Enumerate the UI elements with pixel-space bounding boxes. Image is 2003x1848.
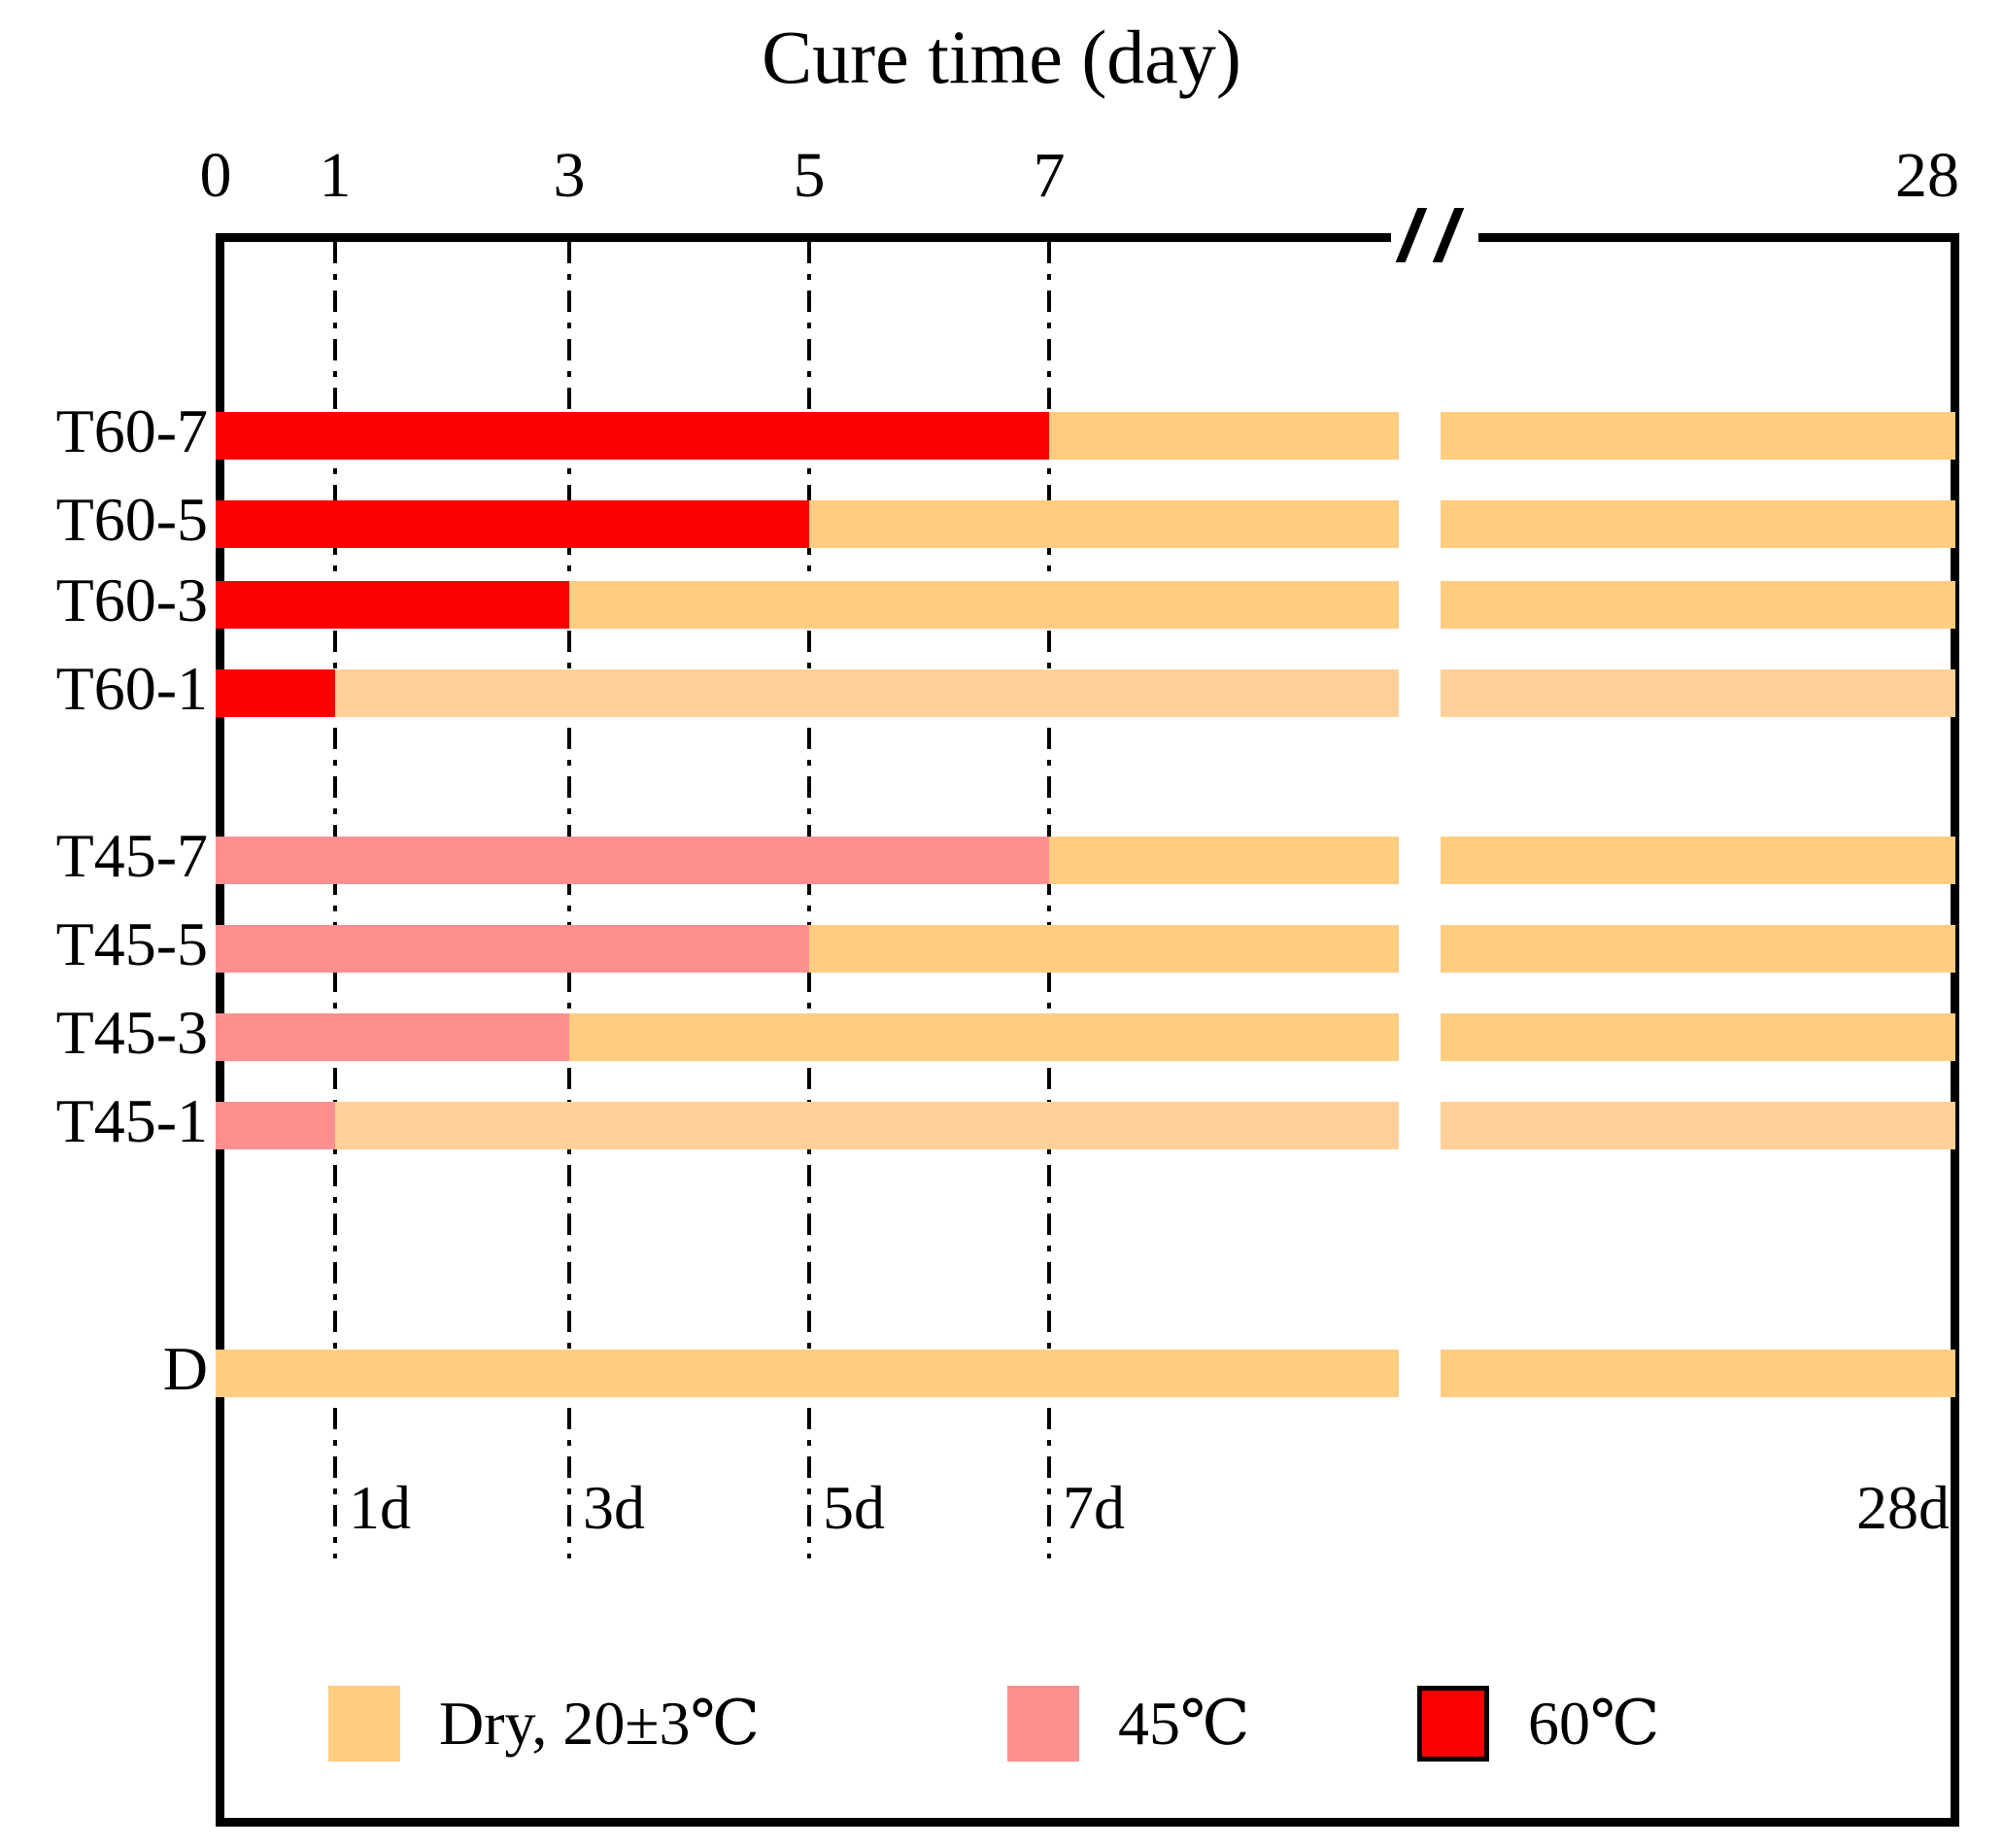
chart-root: Cure time (day) 0135728 T60-7T60-5T60-3T…: [0, 0, 2003, 1848]
x-tick-label-0: 0: [200, 144, 232, 208]
row-label-T60-1: T60-1: [56, 658, 208, 720]
bar-segment-T45-1-45℃: [216, 1102, 335, 1149]
x-tick-label-5: 5: [794, 144, 826, 208]
bar-segment-D-Dry, 20±3℃: [216, 1350, 1399, 1397]
row-label-T45-7: T45-7: [56, 825, 208, 887]
x-tick-label-28: 28: [1895, 144, 1959, 208]
row-label-T45-3: T45-3: [56, 1002, 208, 1064]
bar-segment-T45-7-Dry, 20±3℃: [1049, 837, 1399, 884]
bar-segment-T60-1-60℃: [216, 669, 335, 717]
page-title: Cure time (day): [0, 19, 2003, 95]
legend-swatch-icon: [328, 1686, 400, 1762]
bar-segment-T45-1-Dry, 20±3℃: [335, 1102, 1399, 1149]
bar-segment-T60-5-Dry, 20±3℃: [809, 500, 1399, 548]
legend-item-60℃[interactable]: 60℃: [1417, 1682, 1660, 1765]
bar-segment-T45-5-Dry, 20±3℃: [809, 925, 1399, 973]
bar-segment-T45-5-45℃: [216, 925, 809, 973]
row-label-T60-3: T60-3: [56, 569, 208, 632]
legend-label: 60℃: [1528, 1693, 1660, 1755]
day-annotation-1d: 1d: [349, 1477, 411, 1539]
legend-item-45℃[interactable]: 45℃: [1007, 1682, 1250, 1765]
bar-segment-T60-7-Dry, 20±3℃: [1049, 412, 1399, 460]
x-tick-label-1: 1: [320, 144, 352, 208]
bar-segment-T60-7-Dry, 20±3℃-post-break: [1441, 412, 1955, 460]
bar-segment-T45-3-Dry, 20±3℃-post-break: [1441, 1013, 1955, 1061]
row-label-T60-7: T60-7: [56, 400, 208, 462]
bar-segment-T60-1-Dry, 20±3℃-post-break: [1441, 669, 1955, 717]
bar-segment-T45-3-45℃: [216, 1013, 569, 1061]
row-label-T45-5: T45-5: [56, 913, 208, 975]
day-annotation-3d: 3d: [583, 1477, 645, 1539]
day-annotation-5d: 5d: [823, 1477, 885, 1539]
legend-swatch-icon: [1417, 1686, 1489, 1762]
bar-segment-T60-5-60℃: [216, 500, 809, 548]
bar-segment-T60-3-Dry, 20±3℃: [569, 581, 1399, 629]
legend-item-Dry, 20±3℃[interactable]: Dry, 20±3℃: [328, 1682, 760, 1765]
row-label-T45-1: T45-1: [56, 1090, 208, 1152]
bar-segment-T45-7-Dry, 20±3℃-post-break: [1441, 837, 1955, 884]
bar-segment-T60-5-Dry, 20±3℃-post-break: [1441, 500, 1955, 548]
bar-segment-T45-3-Dry, 20±3℃: [569, 1013, 1399, 1061]
axis-break-icon: [1391, 222, 1478, 262]
row-label-D: D: [163, 1338, 208, 1400]
row-label-T60-5: T60-5: [56, 489, 208, 551]
x-tick-label-7: 7: [1034, 144, 1066, 208]
bar-segment-T45-5-Dry, 20±3℃-post-break: [1441, 925, 1955, 973]
x-tick-label-3: 3: [554, 144, 586, 208]
bar-segment-T60-7-60℃: [216, 412, 1049, 460]
legend-label: Dry, 20±3℃: [439, 1693, 760, 1755]
bar-segment-T60-1-Dry, 20±3℃: [335, 669, 1399, 717]
bar-segment-T45-7-45℃: [216, 837, 1049, 884]
bar-segment-D-Dry, 20±3℃-post-break: [1441, 1350, 1955, 1397]
bar-segment-T45-1-Dry, 20±3℃-post-break: [1441, 1102, 1955, 1149]
day-annotation-7d: 7d: [1063, 1477, 1125, 1539]
bar-segment-T60-3-Dry, 20±3℃-post-break: [1441, 581, 1955, 629]
legend-label: 45℃: [1118, 1693, 1250, 1755]
day-annotation-28d: 28d: [1856, 1477, 1950, 1539]
bar-segment-T60-3-60℃: [216, 581, 569, 629]
legend-swatch-icon: [1007, 1686, 1079, 1762]
